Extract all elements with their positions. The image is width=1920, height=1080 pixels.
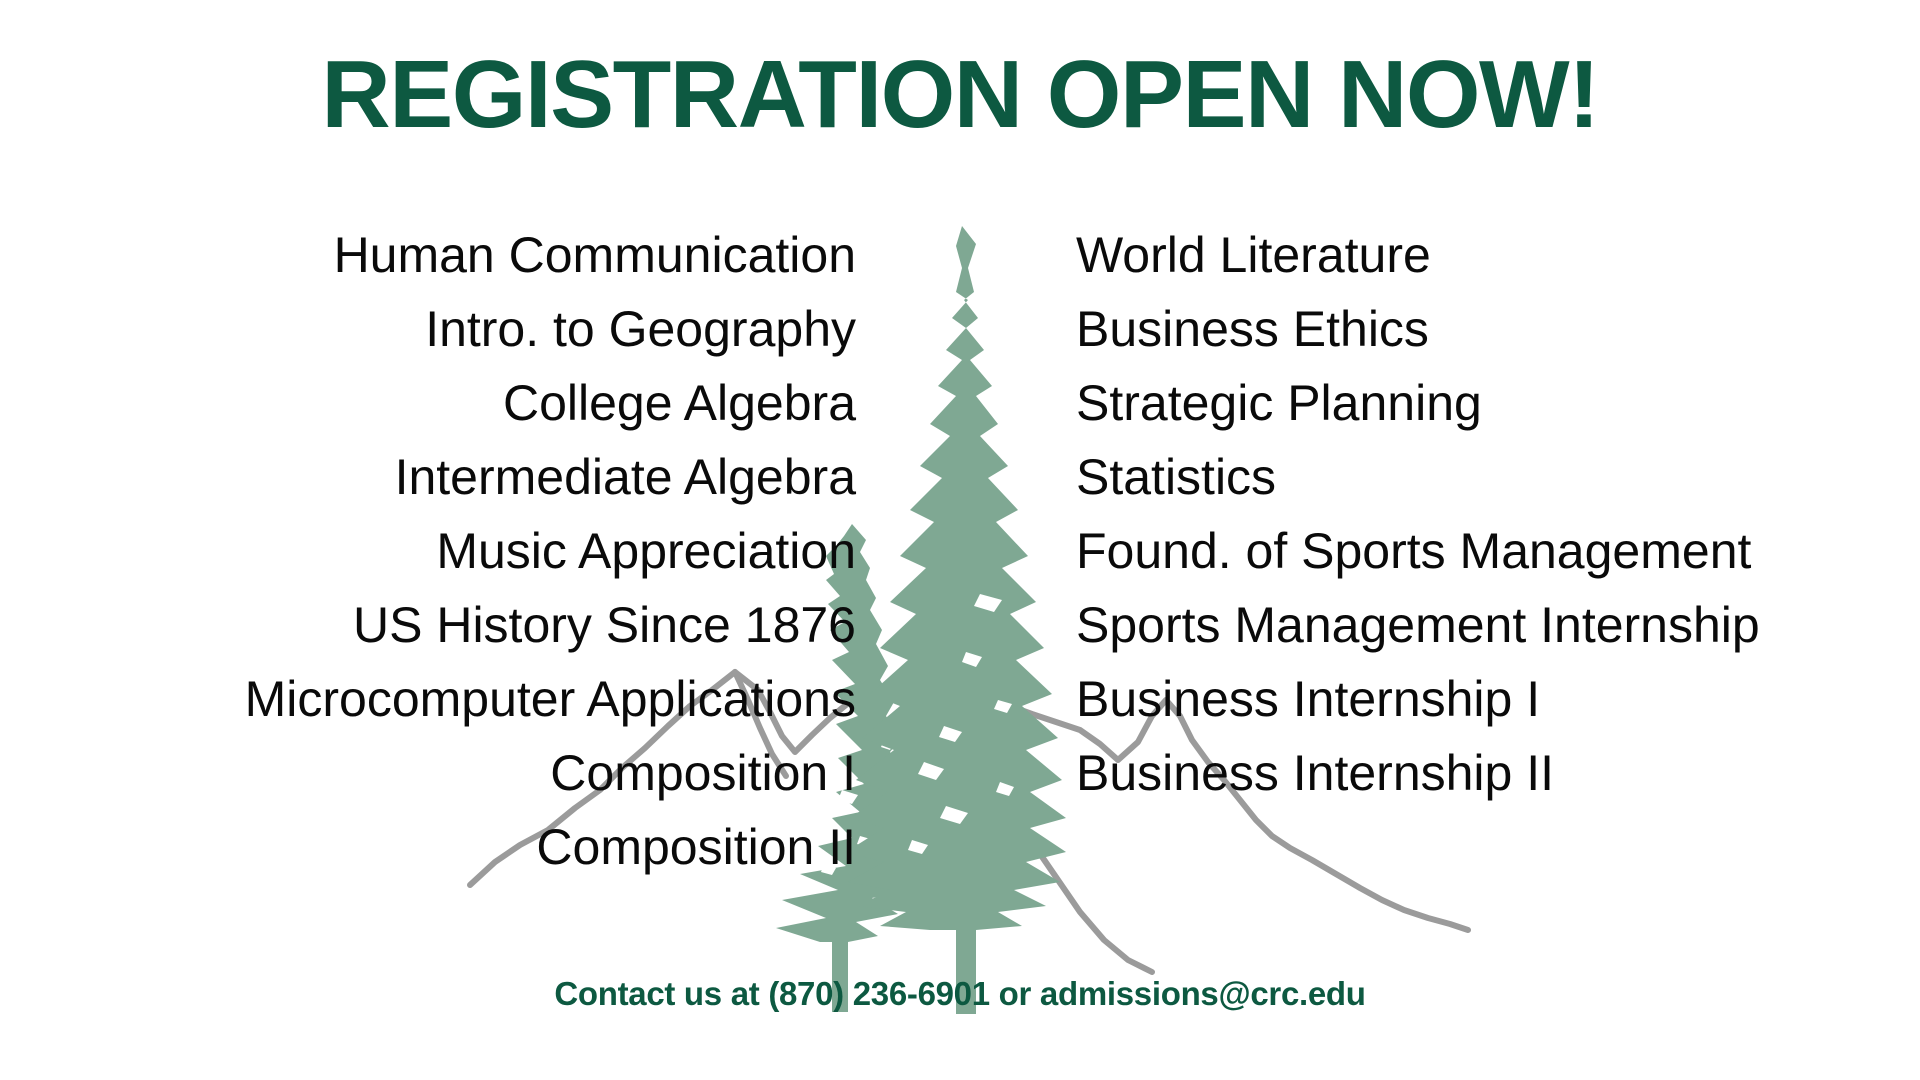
list-item: Business Internship I xyxy=(1076,662,1920,736)
page-title: REGISTRATION OPEN NOW! xyxy=(0,44,1920,146)
list-item: Human Communication xyxy=(0,218,856,292)
list-item: Statistics xyxy=(1076,440,1920,514)
list-item: Microcomputer Applications xyxy=(0,662,856,736)
list-item: Business Ethics xyxy=(1076,292,1920,366)
contact-line: Contact us at (870) 236-6901 or admissio… xyxy=(0,975,1920,1013)
list-item: Business Internship II xyxy=(1076,736,1920,810)
list-item: Composition II xyxy=(0,810,856,884)
list-item: Strategic Planning xyxy=(1076,366,1920,440)
list-item: Sports Management Internship xyxy=(1076,588,1920,662)
list-item: Found. of Sports Management xyxy=(1076,514,1920,588)
list-item: Intro. to Geography xyxy=(0,292,856,366)
list-item: College Algebra xyxy=(0,366,856,440)
registration-flyer: REGISTRATION OPEN NOW! Human Communicati… xyxy=(0,0,1920,1080)
list-item: Intermediate Algebra xyxy=(0,440,856,514)
course-list-right: World Literature Business Ethics Strateg… xyxy=(1040,218,1920,810)
list-item: US History Since 1876 xyxy=(0,588,856,662)
list-item: Music Appreciation xyxy=(0,514,856,588)
course-lists: Human Communication Intro. to Geography … xyxy=(0,218,1920,884)
course-list-left: Human Communication Intro. to Geography … xyxy=(0,218,880,884)
list-item: Composition I xyxy=(0,736,856,810)
list-item: World Literature xyxy=(1076,218,1920,292)
